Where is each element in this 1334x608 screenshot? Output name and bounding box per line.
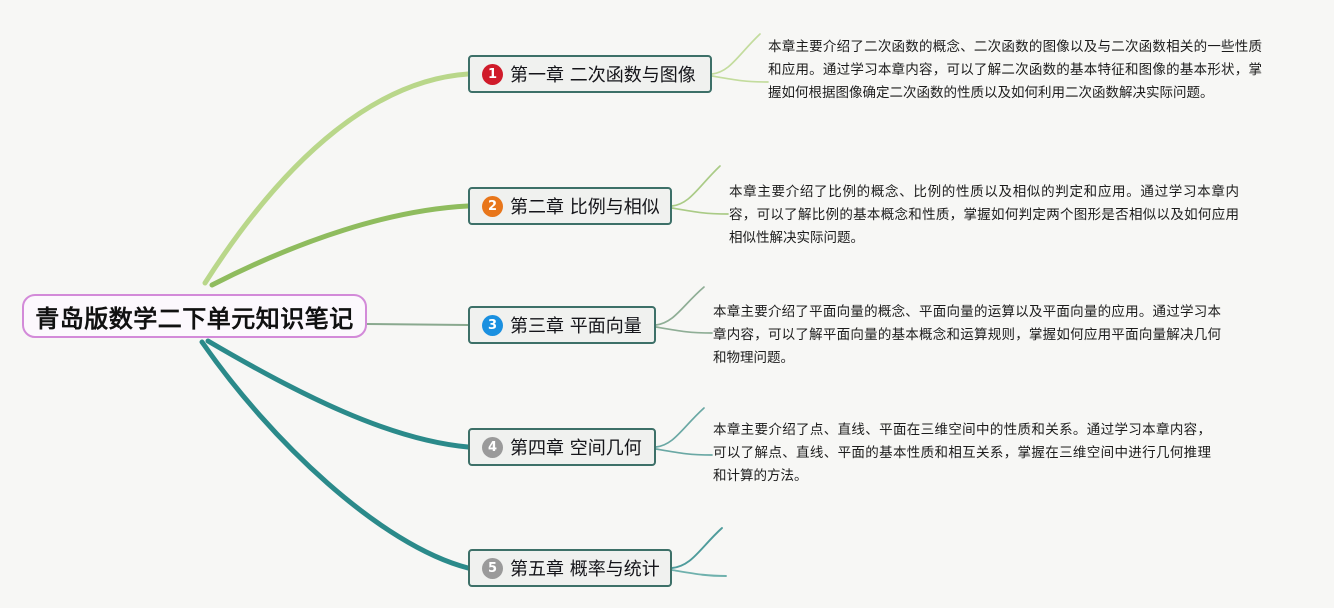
subbranch-fork-5 <box>672 528 726 576</box>
chapter-description-4: 本章主要介绍了点、直线、平面在三维空间中的性质和关系。通过学习本章内容，可以了解… <box>713 419 1211 489</box>
chapter-badge-5: 5 <box>482 558 503 579</box>
chapter-description-2: 本章主要介绍了比例的概念、比例的性质以及相似的判定和应用。通过学习本章内容，可以… <box>729 181 1239 251</box>
branch-to-chapter-5 <box>202 342 468 568</box>
chapter-badge-4: 4 <box>482 437 503 458</box>
chapter-description-3: 本章主要介绍了平面向量的概念、平面向量的运算以及平面向量的应用。通过学习本章内容… <box>713 301 1221 371</box>
chapter-description-1: 本章主要介绍了二次函数的概念、二次函数的图像以及与二次函数相关的一些性质和应用。… <box>768 36 1262 106</box>
root-node-label: 青岛版数学二下单元知识笔记 <box>35 299 354 334</box>
chapter-badge-1: 1 <box>482 64 503 85</box>
branch-to-chapter-2 <box>212 206 468 285</box>
chapter-node-1[interactable]: 1 第一章 二次函数与图像 <box>468 55 712 93</box>
subbranch-fork-3 <box>656 287 712 333</box>
mindmap-canvas: 青岛版数学二下单元知识笔记 1 第一章 二次函数与图像 本章主要介绍了二次函数的… <box>0 0 1334 608</box>
chapter-label-2: 第二章 比例与相似 <box>510 193 660 219</box>
chapter-badge-3: 3 <box>482 315 503 336</box>
chapter-node-2[interactable]: 2 第二章 比例与相似 <box>468 187 672 225</box>
chapter-label-3: 第三章 平面向量 <box>510 312 642 338</box>
chapter-label-4: 第四章 空间几何 <box>510 434 642 460</box>
subbranch-fork-1 <box>712 34 768 82</box>
chapter-badge-2: 2 <box>482 196 503 217</box>
subbranch-fork-2 <box>672 166 728 214</box>
branch-to-chapter-4 <box>208 341 468 447</box>
branch-to-chapter-1 <box>205 74 468 283</box>
chapter-node-4[interactable]: 4 第四章 空间几何 <box>468 428 656 466</box>
branch-to-chapter-3 <box>367 324 468 325</box>
root-node[interactable]: 青岛版数学二下单元知识笔记 <box>22 294 367 338</box>
subbranch-fork-4 <box>656 408 712 455</box>
chapter-label-5: 第五章 概率与统计 <box>510 555 660 581</box>
chapter-node-5[interactable]: 5 第五章 概率与统计 <box>468 549 672 587</box>
chapter-label-1: 第一章 二次函数与图像 <box>510 61 696 87</box>
chapter-node-3[interactable]: 3 第三章 平面向量 <box>468 306 656 344</box>
